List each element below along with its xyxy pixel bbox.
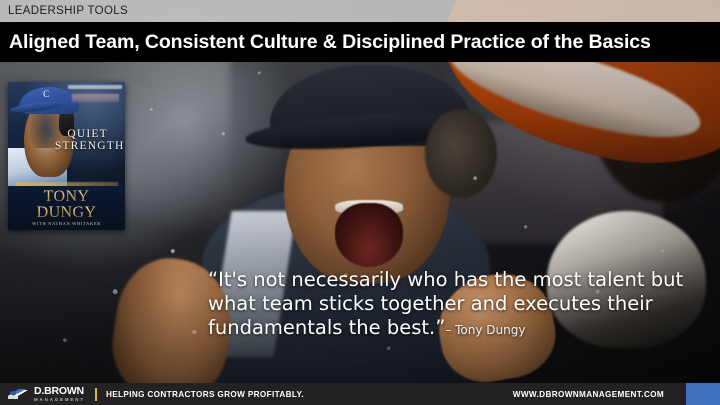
book-bestseller-banner (68, 85, 122, 89)
footer-website-url: WWW.DBROWNMANAGEMENT.COM (513, 390, 664, 399)
book-cover-photo: C QUIET STRENGTH (8, 82, 125, 186)
logo-brand-name: D.BROWN (34, 386, 85, 397)
title-bar: Aligned Team, Consistent Culture & Disci… (0, 22, 720, 62)
eyebrow-label: LEADERSHIP TOOLS (0, 5, 128, 17)
book-author-line2: DUNGY (8, 205, 125, 220)
page-title: Aligned Team, Consistent Culture & Disci… (0, 31, 651, 54)
quote-block: “It's not necessarily who has the most t… (208, 268, 708, 340)
book-title-line2: STRENGTH (55, 140, 121, 152)
book-top-blurb (72, 94, 119, 101)
book-author-name: TONY DUNGY (8, 189, 125, 220)
book-coauthor: WITH NATHAN WHITAKER (8, 221, 125, 226)
book-cover-lower-panel: TONY DUNGY WITH NATHAN WHITAKER (8, 186, 125, 230)
footer-accent-block (686, 383, 720, 405)
dbrown-logo-icon (7, 387, 29, 401)
footer-divider (95, 388, 97, 401)
dbrown-logo-wordmark: D.BROWN MANAGEMENT (34, 386, 85, 402)
quote-attribution: – Tony Dungy (445, 323, 525, 337)
footer-tagline: HELPING CONTRACTORS GROW PROFITABLY. (106, 390, 304, 399)
book-cover-quiet-strength[interactable]: C QUIET STRENGTH TONY DUNGY WITH NATHAN … (8, 82, 125, 230)
footer-bar: D.BROWN MANAGEMENT HELPING CONTRACTORS G… (0, 383, 720, 405)
presentation-slide: LEADERSHIP TOOLS Aligned Team, Consisten… (0, 0, 720, 405)
book-title: QUIET STRENGTH (55, 128, 121, 153)
colts-logo-icon: C (43, 90, 54, 101)
book-author-line1: TONY (8, 189, 125, 204)
logo-brand-sub: MANAGEMENT (34, 398, 85, 402)
book-title-line1: QUIET (55, 128, 121, 140)
eyebrow-bar: LEADERSHIP TOOLS (0, 0, 720, 22)
